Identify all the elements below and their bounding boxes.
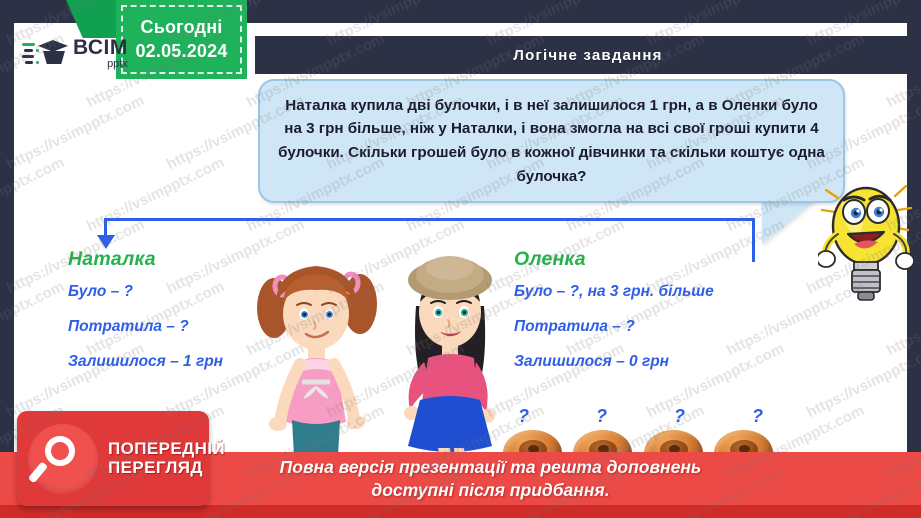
unknown-markers: ? ? ? ? [518, 406, 763, 432]
date-badge-label: Сьогодні [141, 17, 223, 38]
brand-logo: ВСІМ pptx [22, 30, 134, 76]
column-line: Потратила – ? [514, 318, 814, 336]
preview-button[interactable]: ПОПЕРЕДНІЙ ПЕРЕГЛЯД [17, 411, 209, 506]
page-title: Логічне завдання [513, 47, 662, 64]
column-line: Залишилося – 0 грн [514, 353, 814, 371]
task-text: Наталка купила дві булочки, і в неї зали… [276, 94, 827, 189]
girl-olenka-character [388, 250, 512, 472]
preview-button-line-2: ПЕРЕГЛЯД [108, 459, 225, 477]
task-speech-bubble: Наталка купила дві булочки, і в неї зали… [258, 79, 845, 203]
question-mark: ? [518, 406, 529, 432]
column-title: Оленка [514, 248, 814, 271]
graduation-cap-icon [22, 36, 68, 70]
column-line: Було – ? [68, 283, 283, 301]
preview-button-line-1: ПОПЕРЕДНІЙ [108, 440, 225, 458]
banner-line-1: Повна версія презентації та решта доповн… [280, 456, 702, 478]
column-line: Було – ?, на 3 грн. більше [514, 283, 814, 301]
lightbulb-character [818, 172, 914, 308]
girl-natalka-character [252, 252, 380, 470]
question-mark: ? [752, 406, 763, 432]
question-mark: ? [674, 406, 685, 432]
question-mark: ? [596, 406, 607, 432]
column-olenka: Оленка Було – ?, на 3 грн. більше Потрат… [514, 248, 814, 388]
presentation-slide: ВСІМ pptx Сьогодні 02.05.2024 Логічне за… [0, 0, 921, 518]
column-title: Наталка [68, 248, 283, 271]
logo-name: ВСІМ [73, 37, 128, 58]
logo-sub: pptx [73, 59, 128, 70]
speech-bubble-tail [762, 196, 820, 244]
date-badge: Сьогодні 02.05.2024 [116, 0, 247, 79]
magnifier-icon [28, 424, 98, 494]
banner-line-2: доступні після придбання. [280, 479, 702, 501]
column-natalka: Наталка Було – ? Потратила – ? Залишилос… [68, 248, 283, 388]
column-line: Залишилося – 1 грн [68, 353, 283, 371]
column-line: Потратила – ? [68, 318, 283, 336]
arrow-down-icon [97, 235, 115, 249]
date-badge-value: 02.05.2024 [135, 41, 227, 62]
slide-header-bar: Логічне завдання [255, 36, 921, 74]
bottom-accent-strip [0, 505, 921, 518]
